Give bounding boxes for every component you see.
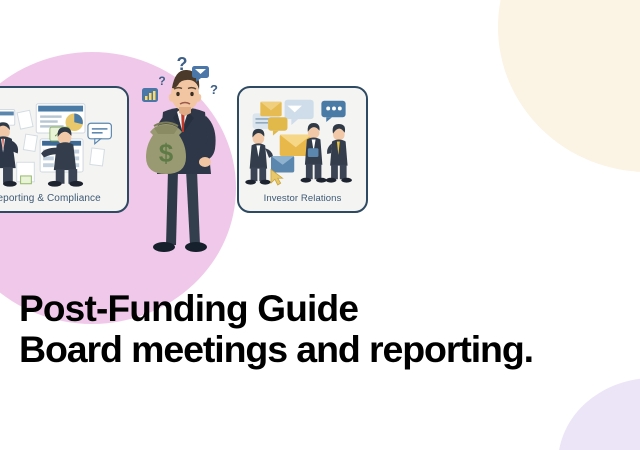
- headline-line-1: Post-Funding Guide: [19, 289, 637, 329]
- reporting-compliance-illustration: ✓✓: [0, 92, 127, 191]
- lavender-circle-decoration: [558, 378, 640, 450]
- question-mark-icon: ?: [177, 54, 188, 74]
- investor-relations-illustration: [239, 92, 366, 190]
- cream-circle-decoration: [498, 0, 640, 172]
- card-reporting-compliance[interactable]: ✓✓: [0, 86, 129, 213]
- chart-icon: [142, 88, 158, 102]
- card-reporting-compliance-label: Reporting & Compliance: [0, 193, 127, 211]
- card-investor-relations-label: Investor Relations: [239, 193, 366, 211]
- question-mark-icon: ?: [210, 82, 218, 97]
- question-mark-icon: ?: [158, 74, 165, 88]
- headline-line-2: Board meetings and reporting.: [19, 329, 637, 370]
- thought-bubbles-group: ? ? ?: [140, 52, 228, 108]
- svg-text:$: $: [159, 138, 174, 168]
- slide-canvas: ✓✓: [0, 0, 640, 450]
- card-investor-relations[interactable]: Investor Relations: [237, 86, 368, 213]
- headline: Post-Funding Guide Board meetings and re…: [19, 289, 637, 369]
- money-bag: $: [146, 123, 186, 175]
- message-icon: [192, 66, 209, 82]
